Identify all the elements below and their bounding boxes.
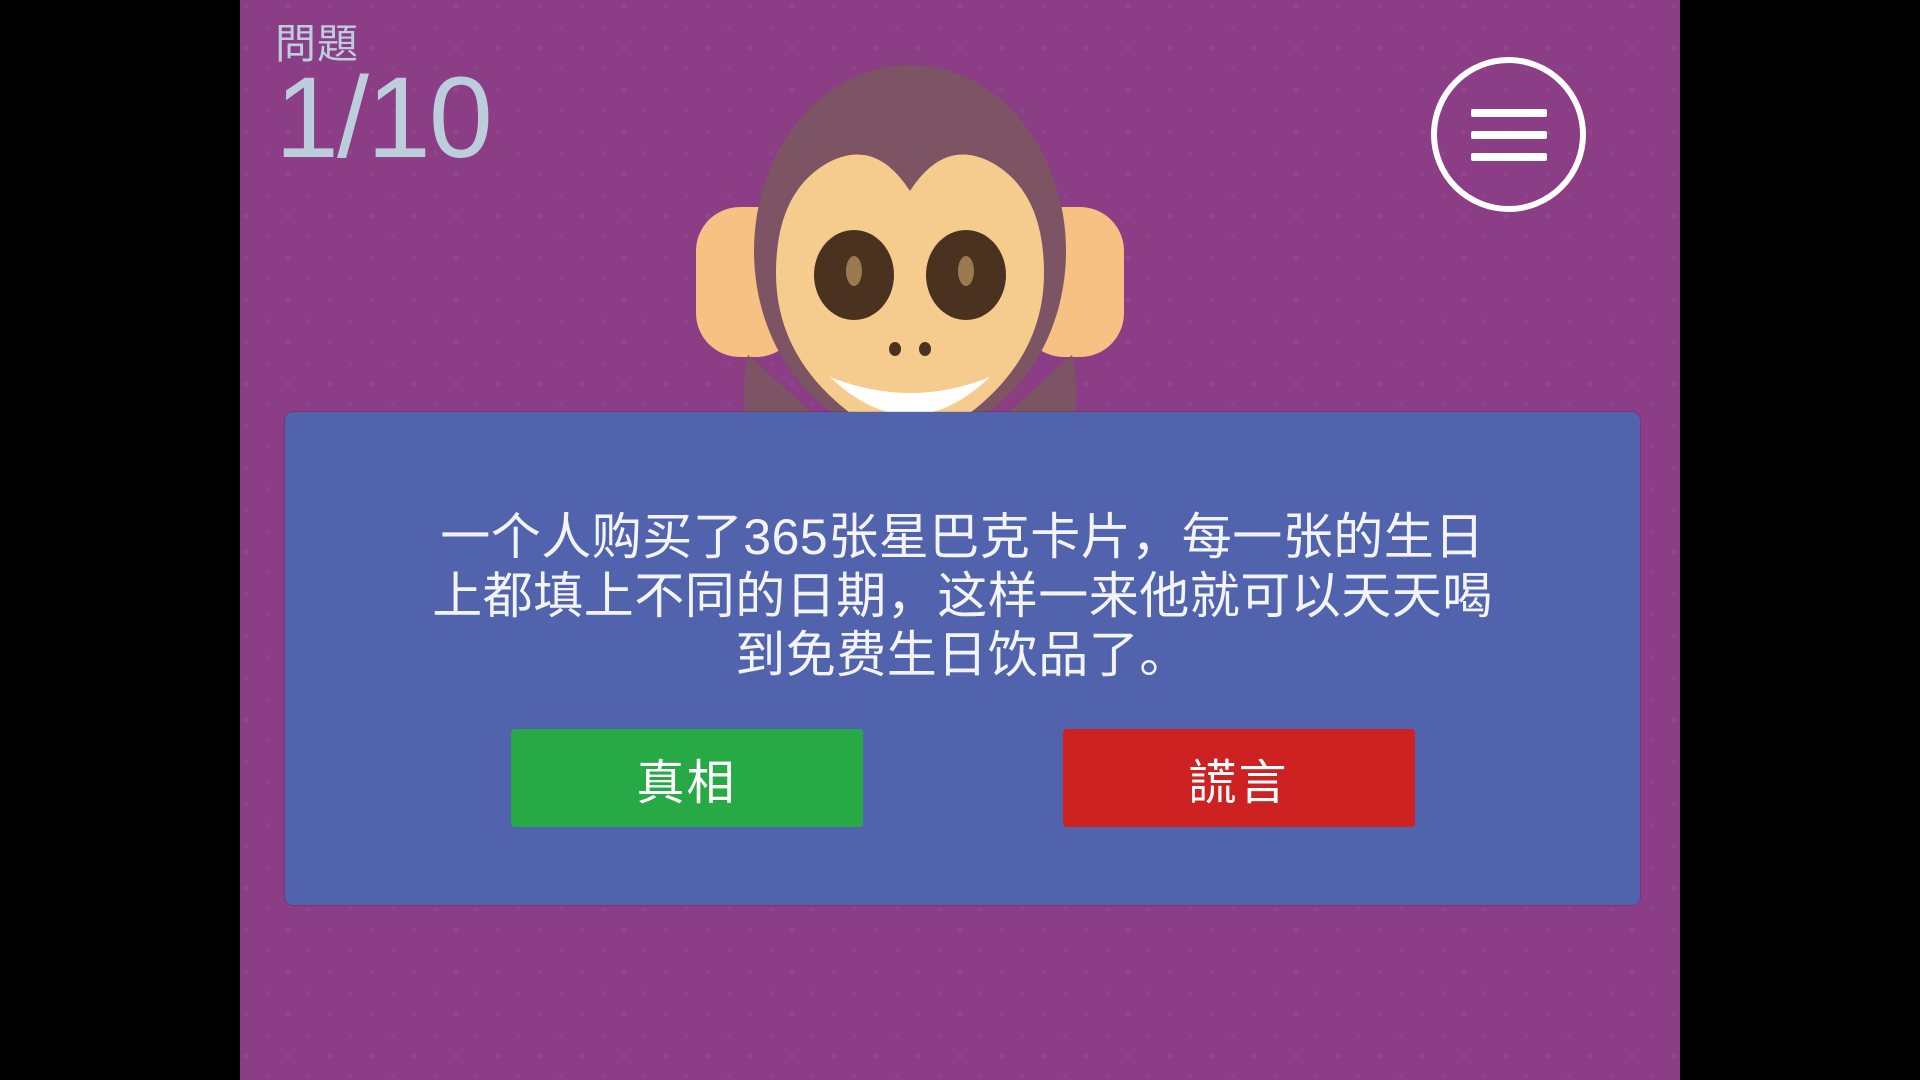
answer-lie-button[interactable]: 謊言: [1063, 729, 1415, 827]
answer-truth-button[interactable]: 真相: [511, 729, 863, 827]
hamburger-line-2: [1471, 131, 1547, 139]
letterbox-bar-right: [1680, 0, 1920, 1080]
question-text: 一个人购买了365张星巴克卡片，每一张的生日上都填上不同的日期，这样一来他就可以…: [423, 508, 1503, 685]
game-screen: 問題 1/10: [0, 0, 1920, 1080]
answer-buttons: 真相 謊言: [511, 729, 1415, 827]
game-viewport: 問題 1/10: [240, 0, 1680, 1080]
hamburger-line-3: [1471, 153, 1547, 161]
letterbox-bar-left: [0, 0, 240, 1080]
question-counter-value: 1/10: [275, 61, 491, 176]
question-card: 一个人购买了365张星巴克卡片，每一张的生日上都填上不同的日期，这样一来他就可以…: [285, 412, 1640, 905]
hamburger-menu-icon[interactable]: [1431, 57, 1586, 212]
question-counter: 問題 1/10: [275, 24, 491, 176]
hamburger-line-1: [1471, 109, 1547, 117]
